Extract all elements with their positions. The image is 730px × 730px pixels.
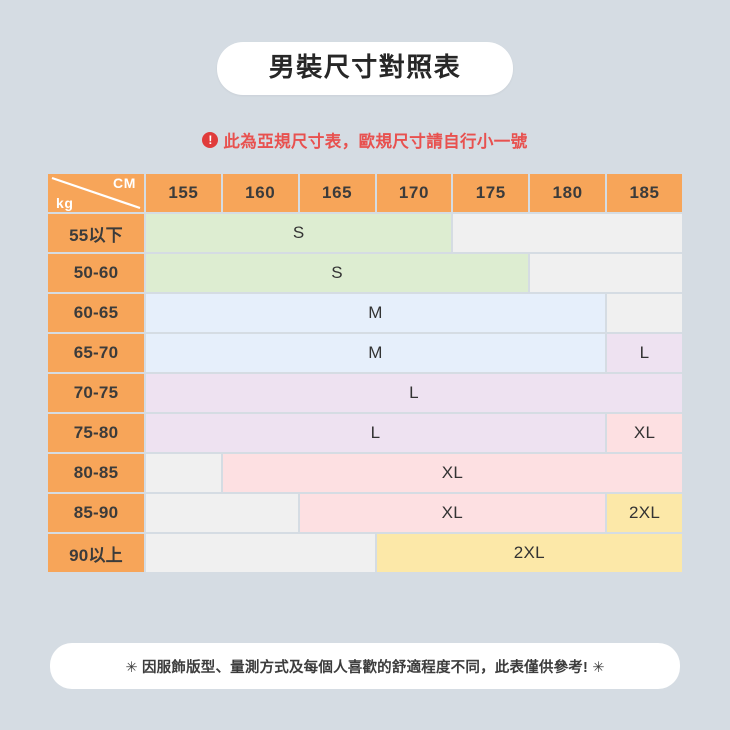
page-title: 男裝尺寸對照表 <box>269 53 462 82</box>
table-row: 55以下S <box>48 214 682 252</box>
table-body: 55以下S50-60S60-65M65-70ML70-75L75-80LXL80… <box>48 214 682 572</box>
column-header-160: 160 <box>223 174 298 212</box>
empty-cell <box>530 254 682 292</box>
size-label: S <box>293 223 305 242</box>
warning-notice: ! 此為亞規尺寸表，歐規尺寸請自行小一號 <box>0 128 730 152</box>
table-row: 80-85XL <box>48 454 682 492</box>
row-header-70-75: 70-75 <box>48 374 144 412</box>
row-header-75-80: 75-80 <box>48 414 144 452</box>
empty-cell <box>146 534 375 572</box>
size-table: CM kg 155 160 165 170 175 180 185 55以下S5… <box>46 172 684 574</box>
row-header-85-90: 85-90 <box>48 494 144 532</box>
size-label: M <box>368 343 382 362</box>
corner-cm-label: CM <box>113 175 136 191</box>
empty-cell <box>146 454 221 492</box>
row-header-90以上: 90以上 <box>48 534 144 572</box>
column-header-180: 180 <box>530 174 605 212</box>
size-cell-xl: XL <box>223 454 682 492</box>
exclamation-circle-icon: ! <box>202 132 218 148</box>
table-row: 65-70ML <box>48 334 682 372</box>
corner-header-cell: CM kg <box>48 174 144 212</box>
size-cell-xl: XL <box>300 494 605 532</box>
size-label: XL <box>442 503 463 522</box>
size-label: L <box>371 423 381 442</box>
size-label: L <box>640 343 650 362</box>
table-row: 70-75L <box>48 374 682 412</box>
warning-text: 此為亞規尺寸表，歐規尺寸請自行小一號 <box>223 128 527 152</box>
footer-container: ✳ 因服飾版型、量測方式及每個人喜歡的舒適程度不同，此表僅供參考! ✳ <box>50 643 680 689</box>
size-chart-page: 男裝尺寸對照表 ! 此為亞規尺寸表，歐規尺寸請自行小一號 CM kg <box>0 0 730 730</box>
row-header-80-85: 80-85 <box>48 454 144 492</box>
title-container: 男裝尺寸對照表 <box>0 42 730 95</box>
table-row: 60-65M <box>48 294 682 332</box>
size-cell-s: S <box>146 214 451 252</box>
size-cell-l: L <box>146 374 682 412</box>
size-cell-l: L <box>146 414 605 452</box>
footer-pill: ✳ 因服飾版型、量測方式及每個人喜歡的舒適程度不同，此表僅供參考! ✳ <box>50 643 680 689</box>
column-header-155: 155 <box>146 174 221 212</box>
table-row: 85-90XL2XL <box>48 494 682 532</box>
table-header-row: CM kg 155 160 165 170 175 180 185 <box>48 174 682 212</box>
size-cell-2xl: 2XL <box>377 534 682 572</box>
table-row: 75-80LXL <box>48 414 682 452</box>
table-header: CM kg 155 160 165 170 175 180 185 <box>48 174 682 212</box>
footer-note: ✳ 因服飾版型、量測方式及每個人喜歡的舒適程度不同，此表僅供參考! ✳ <box>125 656 604 677</box>
size-cell-2xl: 2XL <box>607 494 682 532</box>
size-cell-l: L <box>607 334 682 372</box>
empty-cell <box>607 294 682 332</box>
row-header-65-70: 65-70 <box>48 334 144 372</box>
empty-cell <box>453 214 682 252</box>
size-label: XL <box>634 423 655 442</box>
column-header-175: 175 <box>453 174 528 212</box>
size-label: L <box>409 383 419 402</box>
empty-cell <box>146 494 298 532</box>
table-row: 50-60S <box>48 254 682 292</box>
size-cell-m: M <box>146 294 605 332</box>
title-pill: 男裝尺寸對照表 <box>217 42 514 95</box>
corner-kg-label: kg <box>56 195 74 211</box>
size-label: S <box>331 263 343 282</box>
size-cell-xl: XL <box>607 414 682 452</box>
column-header-185: 185 <box>607 174 682 212</box>
table-row: 90以上2XL <box>48 534 682 572</box>
size-label: XL <box>442 463 463 482</box>
column-header-170: 170 <box>377 174 452 212</box>
column-header-165: 165 <box>300 174 375 212</box>
row-header-50-60: 50-60 <box>48 254 144 292</box>
size-label: 2XL <box>514 543 545 562</box>
size-cell-s: S <box>146 254 528 292</box>
row-header-55以下: 55以下 <box>48 214 144 252</box>
size-label: M <box>368 303 382 322</box>
size-table-container: CM kg 155 160 165 170 175 180 185 55以下S5… <box>46 172 684 574</box>
size-label: 2XL <box>629 503 660 522</box>
size-cell-m: M <box>146 334 605 372</box>
row-header-60-65: 60-65 <box>48 294 144 332</box>
